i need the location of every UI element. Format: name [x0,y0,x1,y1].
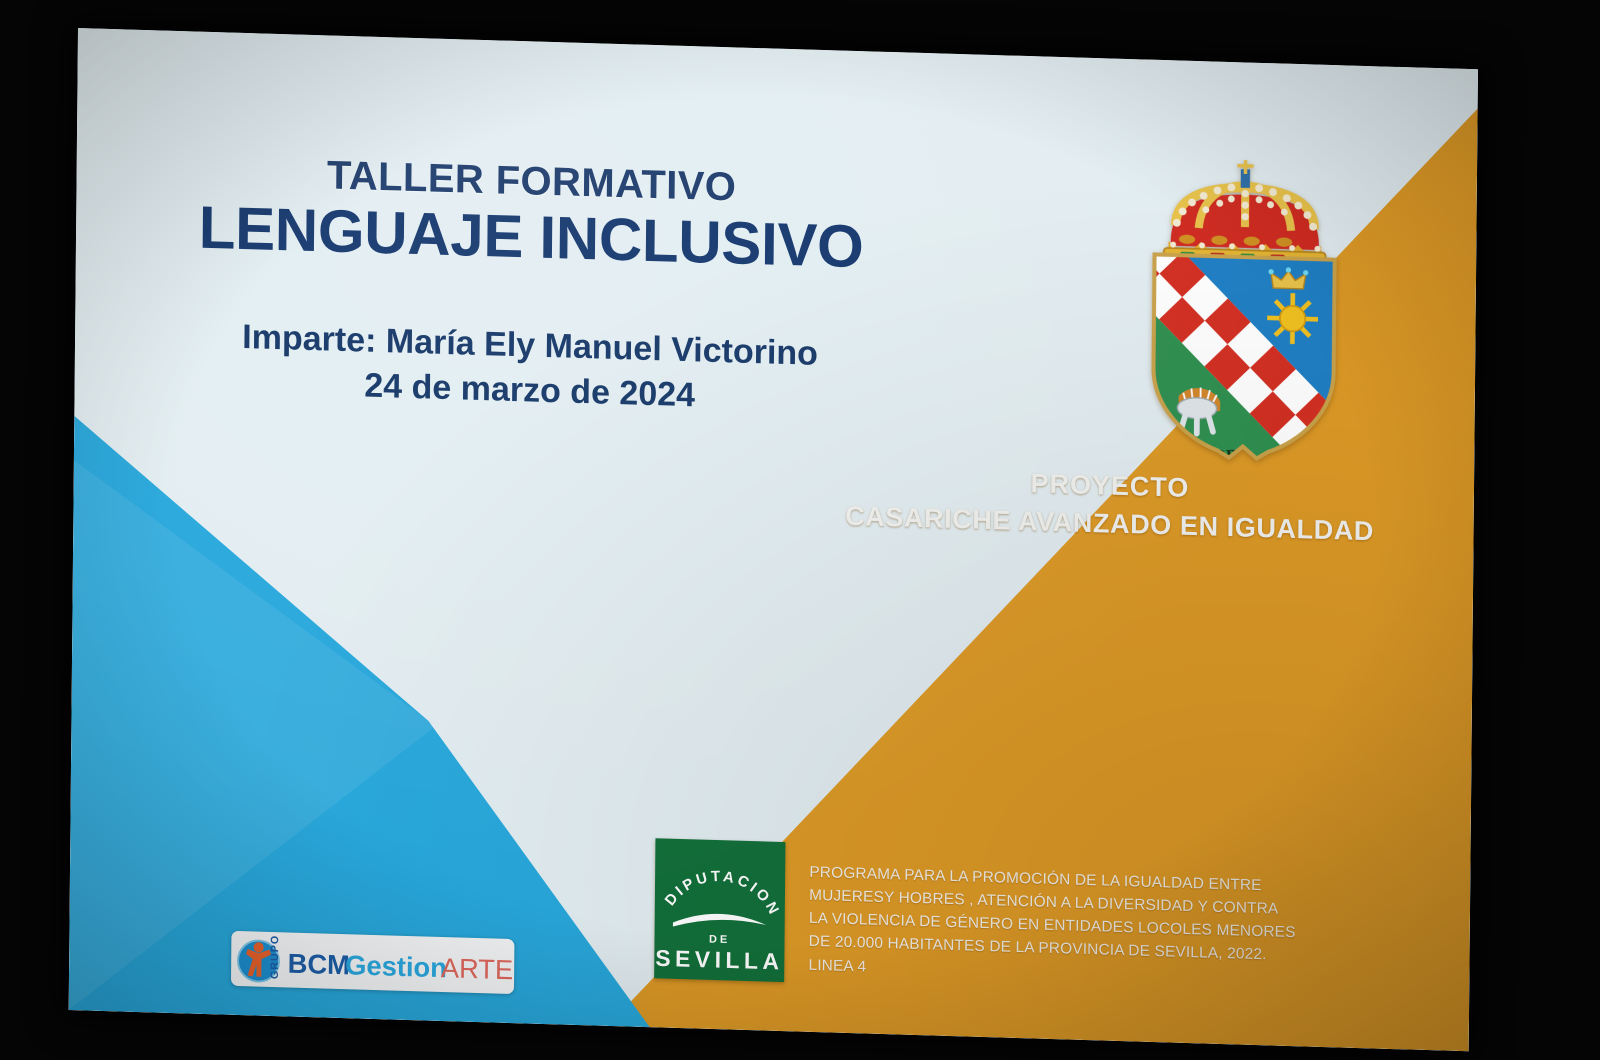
bcm-arte-text: ARTE [441,952,514,985]
diputacion-arc-swoosh [673,913,767,930]
workshop-text-block: TALLER FORMATIVO LENGUAJE INCLUSIVO Impa… [179,149,881,424]
program-fine-print: PROGRAMA PARA LA PROMOCIÓN DE LA IGUALDA… [808,861,1411,994]
bcm-gestion-text: Gestion [346,949,448,983]
diputacion-sevilla-text: SEVILLA [655,945,783,975]
bcm-gestionarte-logo: GRUPO BCM Gestion ARTE [231,930,514,993]
diputacion-sevilla-logo: DIPUTACION DE SEVILLA [654,839,786,982]
bcm-grupo-text: GRUPO [269,934,281,979]
coat-of-arms-icon: VENTIPPO [1127,152,1361,471]
royal-crown-icon [1164,158,1327,267]
slide-wrapper: TALLER FORMATIVO LENGUAJE INCLUSIVO Impa… [0,0,1600,1060]
bcm-bcm-text: BCM [288,947,350,980]
projection-screen: TALLER FORMATIVO LENGUAJE INCLUSIVO Impa… [0,0,1600,1060]
diputacion-arc-text: DIPUTACION [662,867,785,921]
diputacion-de-text: DE [709,934,730,947]
presentation-slide: TALLER FORMATIVO LENGUAJE INCLUSIVO Impa… [69,28,1478,1051]
